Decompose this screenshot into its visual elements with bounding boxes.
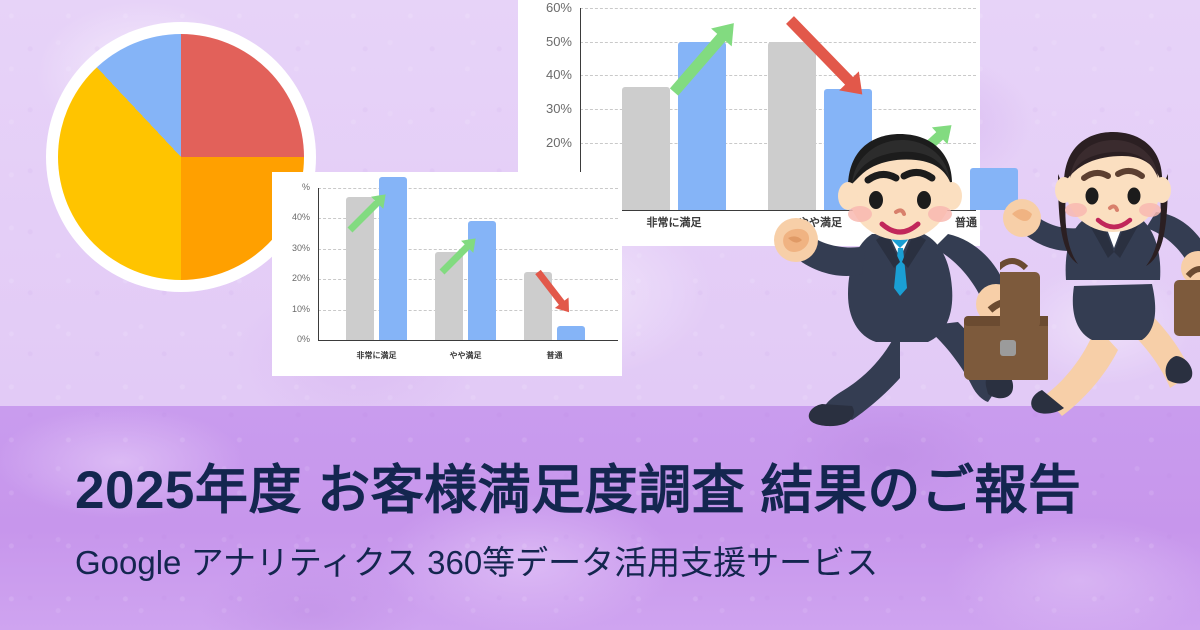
x-axis-category-label: 非常に満足 bbox=[330, 352, 423, 360]
y-axis-tick-label: 20% bbox=[518, 136, 572, 149]
bar-chart-lower-plot: 0%10%20%30%40%%非常に満足やや満足普通 bbox=[272, 172, 622, 376]
page-title: 2025年度 お客様満足度調査 結果のご報告 bbox=[75, 464, 1145, 517]
x-axis-category-label: やや満足 bbox=[419, 352, 512, 360]
y-axis-tick-label: 30% bbox=[272, 244, 310, 253]
chart-panel-lower: 0%10%20%30%40%%非常に満足やや満足普通 bbox=[272, 172, 622, 376]
y-axis-tick-label: 60% bbox=[518, 1, 572, 14]
y-axis-tick-label: 40% bbox=[272, 213, 310, 222]
page-subtitle: Google アナリティクス 360等データ活用支援サービス bbox=[75, 546, 1145, 579]
pie-chart-disc bbox=[58, 34, 304, 280]
y-axis-tick-label: 20% bbox=[272, 274, 310, 283]
trend-up-arrow bbox=[438, 234, 480, 276]
bar-current bbox=[557, 326, 585, 340]
y-axis-tick-label: 10% bbox=[272, 305, 310, 314]
y-axis-tick-label: % bbox=[272, 183, 310, 192]
x-axis bbox=[318, 340, 618, 341]
y-axis-tick-label: 0% bbox=[272, 335, 310, 344]
trend-up-arrow bbox=[670, 22, 736, 96]
trend-down-arrow bbox=[534, 268, 574, 316]
trend-up-arrow bbox=[346, 190, 390, 234]
trend-down-arrow bbox=[786, 16, 864, 96]
x-axis-category-label: 普通 bbox=[508, 352, 601, 360]
title-block: 2025年度 お客様満足度調査 結果のご報告 Google アナリティクス 36… bbox=[0, 406, 1200, 630]
gridline bbox=[580, 8, 976, 9]
bar-previous bbox=[622, 87, 670, 210]
running-businesswoman-illustration bbox=[1000, 130, 1200, 420]
y-axis bbox=[318, 188, 319, 340]
gridline bbox=[318, 188, 618, 189]
x-axis-category-label: 非常に満足 bbox=[606, 218, 742, 229]
y-axis-tick-label: 40% bbox=[518, 68, 572, 81]
y-axis-tick-label: 30% bbox=[518, 102, 572, 115]
y-axis-tick-label: 50% bbox=[518, 35, 572, 48]
banner-canvas: 20%30%40%50%60%非常に満足やや満足普通 0%10%20%30%40… bbox=[0, 0, 1200, 630]
